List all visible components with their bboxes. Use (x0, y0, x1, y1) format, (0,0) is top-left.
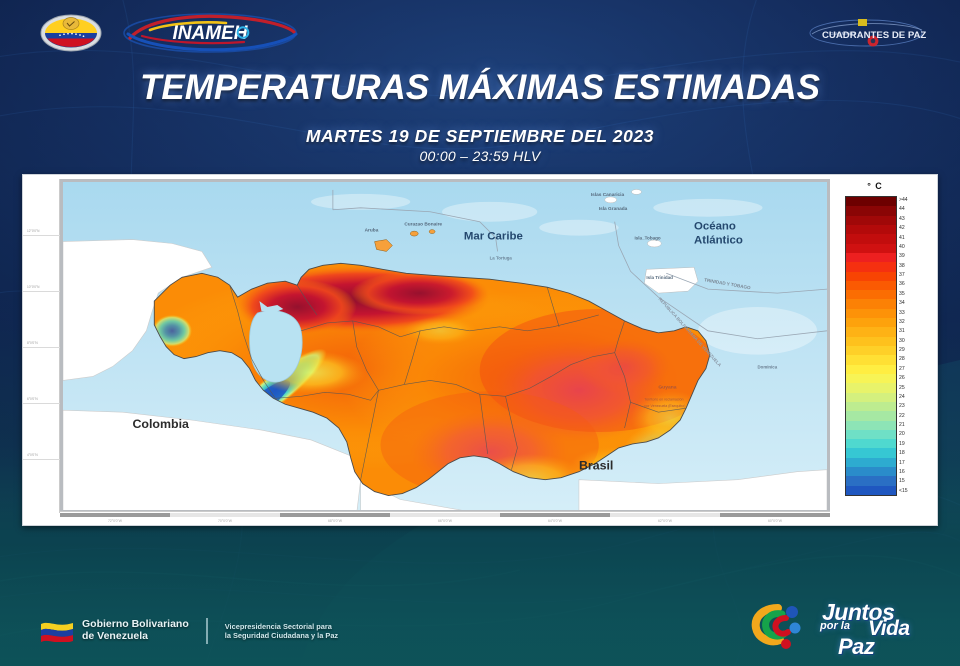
label-mar-caribe: Mar Caribe (464, 231, 523, 243)
cuadrantes-de-paz-logo: Gran Misión CUADRANTES DE PAZ (800, 14, 932, 50)
vp-line-2: la Seguridad Ciudadana y la Paz (225, 631, 338, 640)
legend-swatch (846, 355, 896, 364)
legend-label: 20 (899, 432, 905, 437)
legend-swatch (846, 458, 896, 467)
legend-swatch (846, 430, 896, 439)
legend-label: <15 (899, 489, 908, 494)
legend-label: 42 (899, 226, 905, 231)
latitude-axis: 12°0'0"N 10°0'0"N 8°0'0"N 6°0'0"N 4°0'0"… (23, 179, 60, 513)
lat-tick: 12°0'0"N (27, 229, 57, 233)
label-oceano-atlantico-line2: Atlántico (694, 235, 743, 247)
legend-swatch (846, 253, 896, 262)
label-oceano-atlantico-line1: Océano (694, 221, 736, 233)
legend-swatch (846, 225, 896, 234)
forecast-time-range: 00:00 – 23:59 HLV (0, 148, 960, 164)
label-aruba: Aruba (365, 228, 379, 234)
legend-swatch (846, 476, 896, 485)
legend-swatch (846, 411, 896, 420)
legend-label: 16 (899, 470, 905, 475)
venezuela-coat-of-arms-logo (40, 14, 102, 52)
legend-label: 44 (899, 207, 905, 212)
legend-label: 33 (899, 311, 905, 316)
legend-label: 37 (899, 273, 905, 278)
legend-label: 38 (899, 264, 905, 269)
legend-swatch (846, 365, 896, 374)
page-title: TEMPERATURAS MÁXIMAS ESTIMADAS (0, 68, 960, 108)
lon-tick: 70°0'0"W (218, 519, 232, 523)
legend-swatch (846, 197, 896, 206)
label-curazao-bonaire: Curazao Bonaire (404, 222, 442, 228)
legend-swatch (846, 448, 896, 457)
legend-label: 17 (899, 461, 905, 466)
legend-label: 25 (899, 386, 905, 391)
legend-label: >44 (899, 198, 908, 203)
footer: Gobierno Bolivariano de Venezuela Vicepr… (0, 576, 960, 666)
legend-label: 19 (899, 442, 905, 447)
legend-swatch (846, 383, 896, 392)
label-dominica: Dominica (758, 365, 778, 370)
lat-tick: 6°0'0"N (27, 397, 57, 401)
cuadrantes-logo-text: CUADRANTES DE PAZ (822, 30, 926, 41)
label-isla-trinidad: Isla Trinidad (646, 275, 673, 280)
forecast-date: MARTES 19 DE SEPTIEMBRE DEL 2023 (0, 126, 960, 147)
label-colombia: Colombia (132, 417, 189, 431)
legend-label: 34 (899, 301, 905, 306)
legend-swatch (846, 244, 896, 253)
header: INAMEH Gran Misión CUADRANTES DE PAZ TEM… (0, 0, 960, 170)
map-panel[interactable]: 12°0'0"N 10°0'0"N 8°0'0"N 6°0'0"N 4°0'0"… (22, 174, 938, 526)
legend-swatch (846, 421, 896, 430)
lat-tick: 4°0'0"N (27, 453, 57, 457)
vp-line-1: Vicepresidencia Sectorial para (225, 622, 338, 631)
lon-tick: 68°0'0"W (328, 519, 342, 523)
inameh-logo: INAMEH (120, 12, 300, 54)
legend-label: 36 (899, 282, 905, 287)
legend-label: 41 (899, 236, 905, 241)
legend-swatch (846, 281, 896, 290)
legend-swatch (846, 290, 896, 299)
legend-color-bar (845, 196, 897, 496)
longitude-axis: 72°0'0"W 70°0'0"W 68°0'0"W 66°0'0"W 64°0… (60, 511, 830, 525)
footer-divider (206, 618, 208, 644)
legend-unit-label: ° C (847, 181, 903, 191)
legend-swatch (846, 299, 896, 308)
temperature-legend: ° C >44444342414039383736353433323130292… (841, 181, 919, 511)
legend-label: 43 (899, 217, 905, 222)
legend-swatch (846, 216, 896, 225)
legend-label: 22 (899, 414, 905, 419)
legend-swatch (846, 318, 896, 327)
lon-tick: 64°0'0"W (548, 519, 562, 523)
label-guyana-note-2: por Venezuela (Esequibo) (644, 404, 685, 408)
label-guyana-note-1: Territorio en reclamación (644, 397, 683, 401)
legend-label: 40 (899, 245, 905, 250)
lat-tick: 10°0'0"N (27, 285, 57, 289)
label-la-tortuga: La Tortuga (490, 255, 513, 260)
legend-label: 35 (899, 292, 905, 297)
lat-tick: 8°0'0"N (27, 341, 57, 345)
legend-label: 39 (899, 254, 905, 259)
lon-tick: 60°0'0"W (768, 519, 782, 523)
legend-label: 29 (899, 348, 905, 353)
lon-tick: 62°0'0"W (658, 519, 672, 523)
legend-label: 15 (899, 479, 905, 484)
temperature-map[interactable]: Mar Caribe Océano Atlántico Colombia Bra… (63, 182, 827, 513)
legend-swatch (846, 467, 896, 476)
legend-label: 18 (899, 451, 905, 456)
legend-label: 30 (899, 339, 905, 344)
legend-swatch (846, 309, 896, 318)
juntos-spiral-icon (748, 598, 810, 654)
legend-swatch (846, 402, 896, 411)
venezuela-flag-icon (40, 620, 74, 642)
legend-swatch (846, 262, 896, 271)
legend-swatch (846, 337, 896, 346)
legend-label: 23 (899, 404, 905, 409)
legend-swatch (846, 346, 896, 355)
legend-swatch (846, 374, 896, 383)
legend-label: 28 (899, 357, 905, 362)
juntos-por-la-vida-y-la-paz-logo: Juntos por la Vida Paz (748, 598, 934, 654)
legend-swatch (846, 206, 896, 215)
map-frame[interactable]: Mar Caribe Océano Atlántico Colombia Bra… (60, 179, 830, 513)
juntos-word-4: Paz (838, 634, 874, 660)
label-brasil: Brasil (579, 459, 613, 473)
legend-swatch (846, 234, 896, 243)
lake-maracaibo (250, 311, 303, 382)
legend-label: 32 (899, 320, 905, 325)
legend-tick-labels: >444443424140393837363534333231302928272… (899, 196, 921, 496)
label-isla-tobago: Isla_Tobago (635, 236, 661, 241)
label-guyana: Guyana (658, 384, 676, 390)
lon-tick: 72°0'0"W (108, 519, 122, 523)
gov-line-2: de Venezuela (82, 631, 189, 643)
lon-tick: 66°0'0"W (438, 519, 452, 523)
label-islas-canarias: Islas Canaricia (591, 192, 625, 198)
legend-label: 24 (899, 395, 905, 400)
legend-label: 26 (899, 376, 905, 381)
legend-label: 31 (899, 329, 905, 334)
legend-swatch (846, 486, 896, 495)
gobierno-bolivariano-logo: Gobierno Bolivariano de Venezuela Vicepr… (40, 618, 338, 644)
legend-label: 27 (899, 367, 905, 372)
juntos-word-2: por la (820, 620, 850, 632)
legend-swatch (846, 272, 896, 281)
legend-swatch (846, 439, 896, 448)
legend-swatch (846, 327, 896, 336)
label-isla-granada: Isla Granada (599, 206, 628, 212)
legend-swatch (846, 393, 896, 402)
legend-label: 21 (899, 423, 905, 428)
